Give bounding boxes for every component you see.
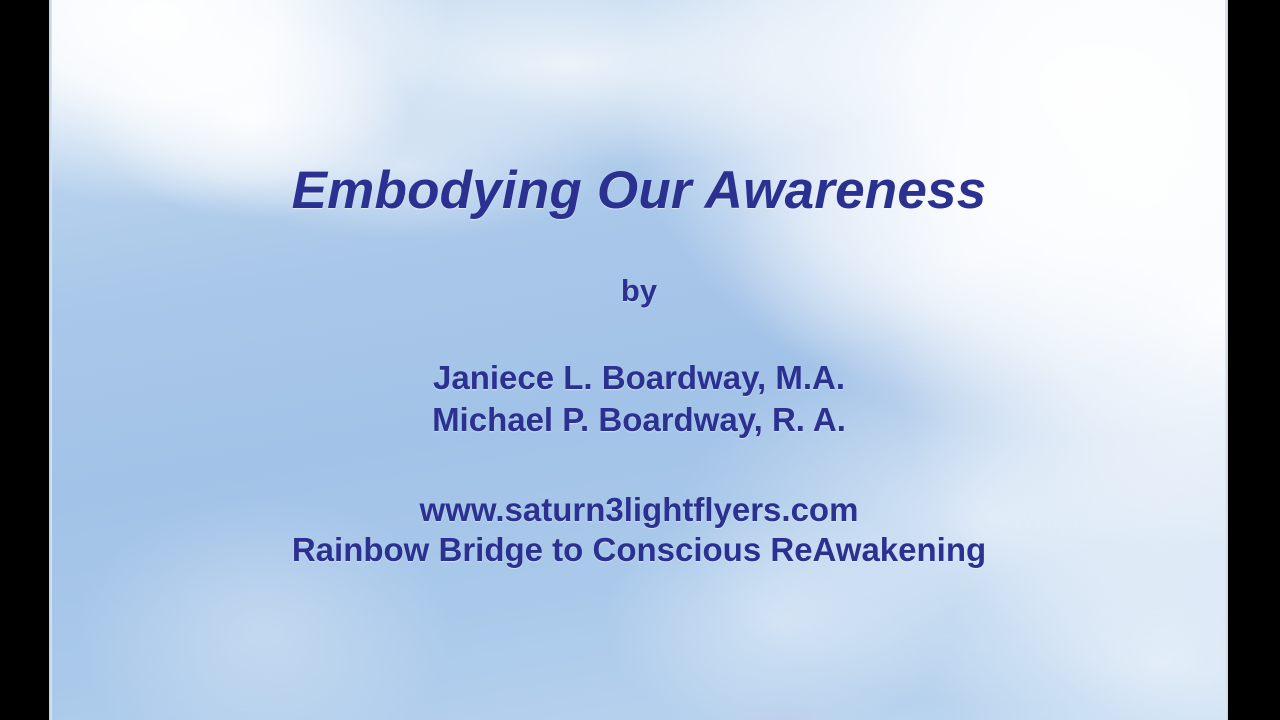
tagline-text: Rainbow Bridge to Conscious ReAwakening bbox=[52, 531, 1226, 569]
slide-edge-left bbox=[49, 0, 52, 720]
slide-text-content: Embodying Our Awareness by Janiece L. Bo… bbox=[52, 0, 1226, 720]
presentation-slide-viewport: Embodying Our Awareness by Janiece L. Bo… bbox=[0, 0, 1280, 720]
slide-edge-right bbox=[1225, 0, 1228, 720]
letterbox-bar-right bbox=[1228, 0, 1280, 720]
byline-label: by bbox=[52, 273, 1226, 309]
author-name-secondary: Michael P. Boardway, R. A. bbox=[52, 401, 1226, 439]
author-name-primary: Janiece L. Boardway, M.A. bbox=[52, 359, 1226, 397]
website-url[interactable]: www.saturn3lightflyers.com bbox=[52, 491, 1226, 529]
letterbox-bar-left bbox=[0, 0, 49, 720]
slide-title: Embodying Our Awareness bbox=[52, 160, 1226, 221]
title-slide: Embodying Our Awareness by Janiece L. Bo… bbox=[52, 0, 1226, 720]
